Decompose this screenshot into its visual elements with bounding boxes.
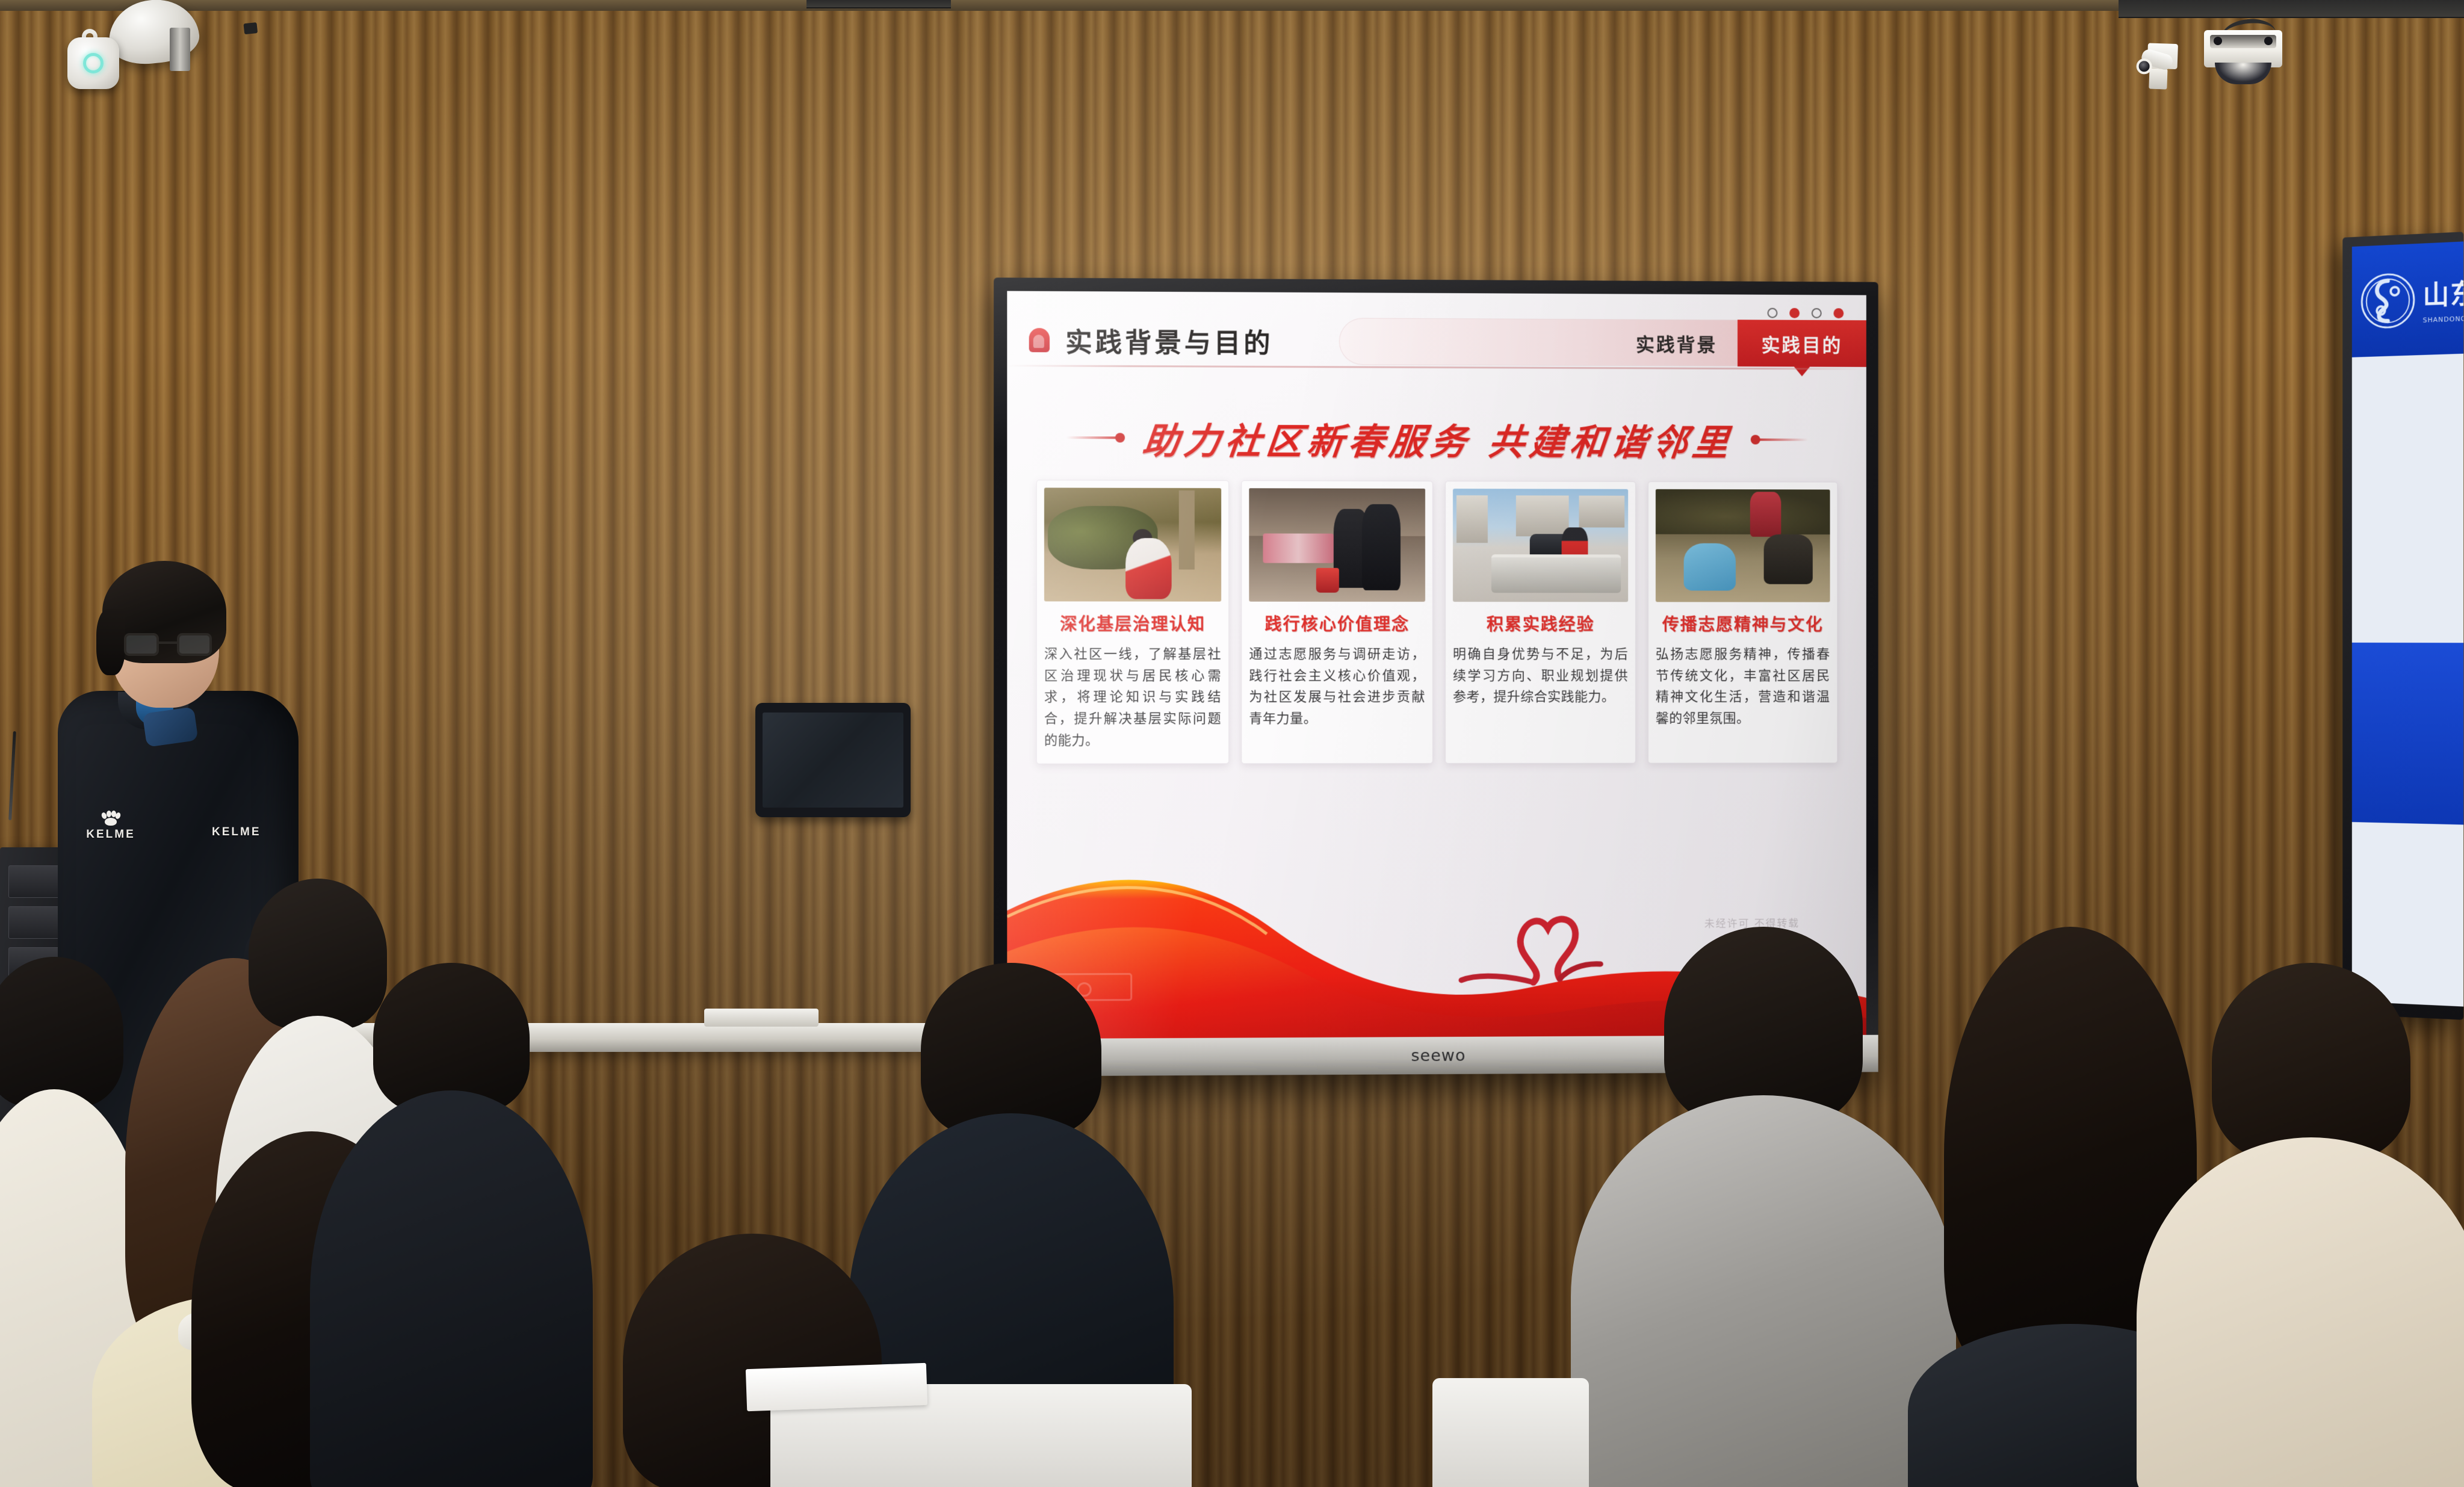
- card-photo-volunteers-cleaning: [1249, 488, 1425, 602]
- eyeglasses-icon: [124, 633, 212, 657]
- audience-member: [2143, 963, 2464, 1487]
- audience-member: [313, 963, 590, 1487]
- aux-cn-name: 山东: [2423, 272, 2464, 313]
- title-ornament-left: [1066, 436, 1122, 439]
- aux-blue-strip: [2352, 643, 2463, 825]
- camera-ir-icon: [2264, 37, 2273, 45]
- pager-dot-2[interactable]: [1789, 308, 1800, 318]
- tab-bar: 实践背景 实践目的: [1339, 318, 1866, 367]
- university-emblem-icon: [2359, 270, 2417, 331]
- display-brand: seewo: [1411, 1046, 1466, 1065]
- card-title: 深化基层治理认知: [1044, 611, 1221, 635]
- ceiling-panel-right: [2119, 0, 2464, 18]
- paper-document: [746, 1363, 927, 1411]
- bullet-security-camera: [2136, 36, 2180, 85]
- wireless-sensor[interactable]: [67, 37, 119, 89]
- desk-device: [704, 1009, 819, 1027]
- card-title: 积累实践经验: [1453, 611, 1628, 635]
- camera-ir-icon: [2214, 37, 2222, 45]
- objective-card[interactable]: 积累实践经验 明确自身优势与不足，为后续学习方向、职业规划提供参考，提升综合实践…: [1445, 481, 1636, 764]
- paw-print-icon: [102, 811, 120, 826]
- card-body: 弘扬志愿服务精神，传播春节传统文化，丰富社区居民精神文化生活，营造和谐温馨的邻里…: [1656, 644, 1830, 729]
- card-photo-volunteers-loading: [1453, 489, 1628, 602]
- title-ornament-right: [1753, 439, 1808, 441]
- objective-card[interactable]: 践行核心价值理念 通过志愿服务与调研走访，践行社会主义核心价值观，为社区发展与社…: [1241, 480, 1433, 764]
- objective-card[interactable]: 传播志愿精神与文化 弘扬志愿服务精神，传播春节传统文化，丰富社区居民精神文化生活…: [1648, 481, 1837, 764]
- presenter-scarf: [143, 706, 199, 747]
- tab-practice-purpose[interactable]: 实践目的: [1738, 320, 1866, 367]
- section-title: 实践背景与目的: [1065, 321, 1273, 360]
- secondary-display-screen: 山东 SHANDONG: [2352, 241, 2463, 1006]
- card-title: 践行核心价值理念: [1249, 611, 1425, 635]
- jacket-chest-logo: KELME: [212, 826, 283, 839]
- sensor-indicator-icon: [83, 53, 104, 73]
- speaker-vent-icon: [243, 22, 258, 34]
- jacket-shoulder-logo: KELME: [79, 811, 142, 844]
- wall-panel-screen[interactable]: [763, 713, 903, 808]
- pager-dot-4[interactable]: [1833, 308, 1843, 318]
- slide-title-row: 助力社区新春服务 共建和谐邻里: [1007, 410, 1866, 468]
- objective-card[interactable]: 深化基层治理认知 深入社区一线，了解基层社区治理现状与居民核心需求，将理论知识与…: [1036, 480, 1229, 764]
- section-marker-icon: [1029, 328, 1050, 352]
- dome-security-camera: [2204, 30, 2282, 84]
- slide-main-title: 助力社区新春服务 共建和谐邻里: [1140, 412, 1736, 466]
- card-photo-volunteer-crouching: [1044, 487, 1221, 601]
- objective-card-list: 深化基层治理认知 深入社区一线，了解基层社区治理现状与居民核心需求，将理论知识与…: [1036, 480, 1838, 764]
- card-body: 深入社区一线，了解基层社区治理现状与居民核心需求，将理论知识与实践结合，提升解决…: [1044, 644, 1221, 752]
- wall-control-panel[interactable]: [755, 703, 911, 817]
- pager-dot-3[interactable]: [1812, 308, 1822, 318]
- speaker-mount: [170, 28, 190, 71]
- slide-pager-dots[interactable]: [1768, 308, 1844, 319]
- audience-member: [1577, 927, 1950, 1487]
- card-photo-volunteers-fieldwork: [1656, 489, 1830, 602]
- aux-en-name: SHANDONG: [2423, 314, 2464, 324]
- pager-dot-1[interactable]: [1768, 308, 1778, 318]
- card-title: 传播志愿精神与文化: [1656, 611, 1830, 635]
- card-body: 通过志愿服务与调研走访，践行社会主义核心价值观，为社区发展与社会进步贡献青年力量…: [1249, 644, 1425, 730]
- jacket-brand-chest: KELME: [212, 826, 261, 838]
- slide-header: 实践背景与目的 实践背景 实践目的: [1007, 317, 1866, 367]
- ceiling-panel-center: [806, 0, 951, 8]
- chair-back: [1432, 1378, 1589, 1487]
- tab-practice-background[interactable]: 实践背景: [1615, 320, 1738, 366]
- secondary-display: 山东 SHANDONG: [2342, 232, 2463, 1020]
- card-body: 明确自身优势与不足，为后续学习方向、职业规划提供参考，提升综合实践能力。: [1453, 644, 1628, 708]
- jacket-brand-shoulder: KELME: [86, 828, 135, 841]
- ceiling-trim: [0, 0, 2464, 11]
